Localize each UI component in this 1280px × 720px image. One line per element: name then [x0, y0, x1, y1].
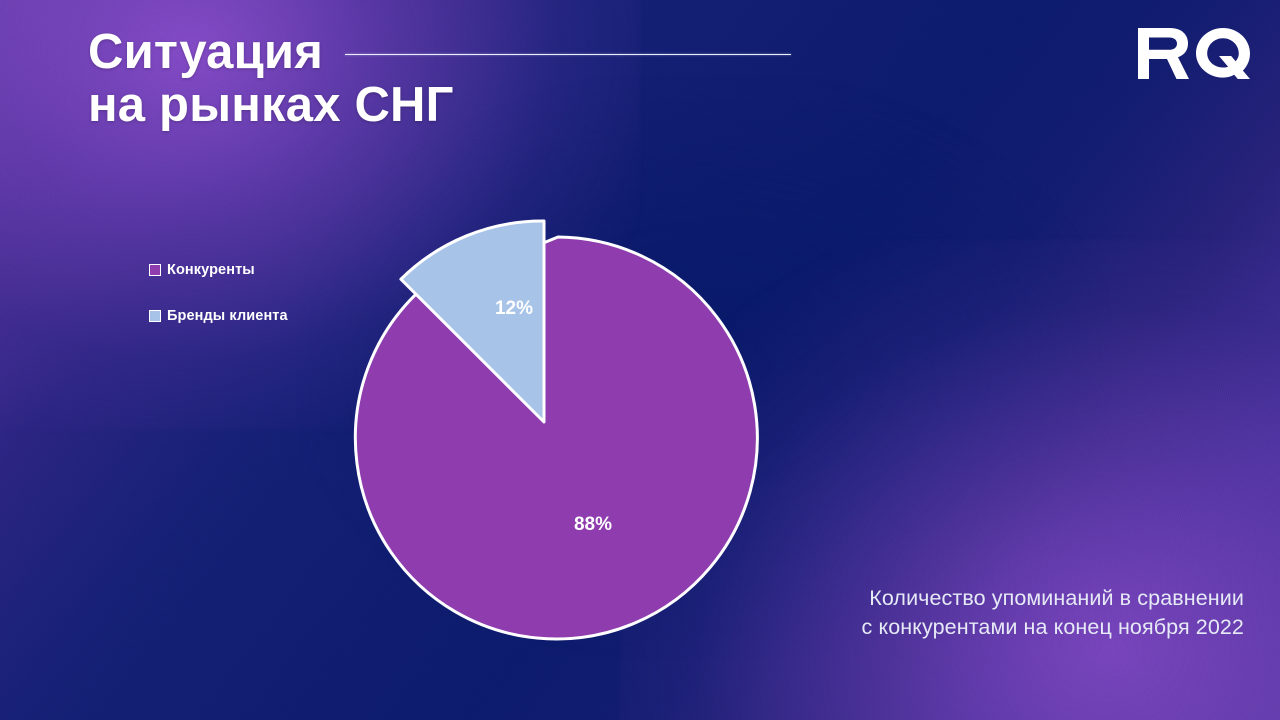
pie-chart-svg: 12% 88% — [330, 180, 800, 670]
legend-item-competitors[interactable]: Конкуренты — [149, 262, 288, 278]
legend-item-client-brands[interactable]: Бренды клиента — [149, 308, 288, 324]
page-title: Ситуация на рынках СНГ — [88, 26, 791, 132]
title-first-row: Ситуация — [88, 26, 791, 79]
chart-caption: Количество упоминаний в сравнении с конк… — [862, 584, 1244, 642]
rq-logo — [1138, 28, 1250, 80]
caption-line-2: с конкурентами на конец ноября 2022 — [862, 613, 1244, 642]
legend-swatch-client-brands — [149, 310, 161, 322]
title-line-2: на рынках СНГ — [88, 79, 791, 132]
pie-slice-competitors[interactable] — [355, 237, 757, 639]
title-divider-rule — [345, 54, 791, 56]
title-line-1: Ситуация — [88, 26, 323, 79]
legend-label-client-brands: Бренды клиента — [167, 308, 288, 324]
legend-swatch-competitors — [149, 264, 161, 276]
slide-canvas: Ситуация на рынках СНГ Конкуренты Бренды… — [0, 0, 1280, 720]
rq-logo-mark — [1138, 28, 1250, 80]
caption-line-1: Количество упоминаний в сравнении — [862, 584, 1244, 613]
legend-label-competitors: Конкуренты — [167, 262, 255, 278]
pie-chart: 12% 88% — [330, 180, 800, 670]
pie-label-client-brands: 12% — [495, 298, 533, 319]
chart-legend: Конкуренты Бренды клиента — [149, 262, 288, 354]
pie-label-competitors: 88% — [574, 514, 612, 535]
